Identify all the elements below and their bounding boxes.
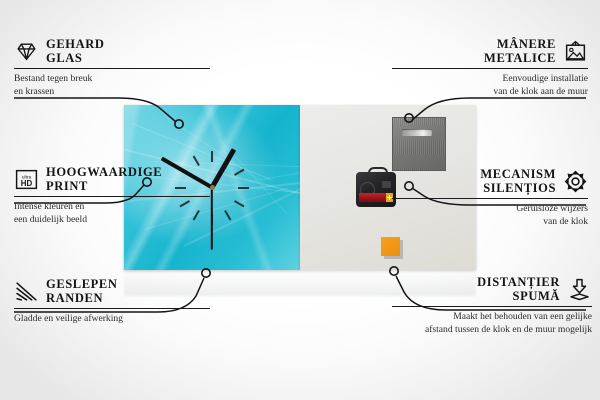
feature-divider [392, 68, 588, 69]
feature-title: HOOGWAARDIGE PRINT [46, 166, 162, 193]
feature-mecanism-silentios: MECANISM SILENȚIOS Geruisloze wijzers va… [392, 168, 588, 228]
feature-header: GEHARD GLAS [14, 38, 210, 65]
feature-desc-line: Gladde en veilige afwerking [14, 313, 210, 325]
feature-description: Gladde en veilige afwerking [14, 313, 210, 325]
feature-description: Bestand tegen breuk en krassen [14, 73, 210, 98]
feature-gehard-glas: GEHARD GLAS Bestand tegen breuk en krass… [14, 38, 210, 98]
feature-desc-line: van de klok aan de muur [392, 86, 588, 98]
feature-description: Intense kleuren en een duidelijk beeld [14, 201, 210, 226]
feature-header: GESLEPEN RANDEN [14, 278, 210, 305]
feature-desc-line: Bestand tegen breuk [14, 73, 210, 85]
framed-picture-icon [563, 39, 588, 64]
wire-manere-metalice [412, 98, 586, 120]
diamond-icon [14, 39, 39, 64]
feature-title-line: SILENȚIOS [480, 182, 556, 196]
feature-title-line: HOOGWAARDIGE [46, 166, 162, 180]
feature-hoogwaardige-print: ultra HD HOOGWAARDIGE PRINT Intense kleu… [14, 166, 210, 226]
feature-divider [14, 68, 210, 69]
feature-title-line: MÂNERE [484, 38, 556, 52]
svg-text:HD: HD [21, 179, 33, 188]
beveled-edge-icon [14, 279, 39, 304]
feature-desc-line: Geruisloze wijzers [392, 203, 588, 215]
wire-endpoint-manere-metalice [405, 114, 413, 122]
feature-title-line: GEHARD [46, 38, 104, 52]
feature-distantier-spuma: DISTANȚIER SPUMĂ Maakt het behouden van … [392, 276, 592, 336]
feature-divider [392, 198, 588, 199]
feature-desc-line: Maakt het behouden van een gelijke [392, 311, 592, 323]
feature-description: Geruisloze wijzers van de klok [392, 203, 588, 228]
feature-desc-line: Eenvoudige installatie [392, 73, 588, 85]
ultra-hd-icon: ultra HD [14, 167, 39, 192]
infographic-canvas: GEHARD GLAS Bestand tegen breuk en krass… [0, 0, 600, 400]
wire-endpoint-geslepen-randen [202, 269, 210, 277]
feature-title: GESLEPEN RANDEN [46, 278, 118, 305]
feature-title: MÂNERE METALICE [484, 38, 556, 65]
feature-title: GEHARD GLAS [46, 38, 104, 65]
feature-divider [14, 196, 210, 197]
feature-desc-line: Intense kleuren en [14, 201, 210, 213]
feature-divider [14, 308, 210, 309]
feature-title-line: METALICE [484, 52, 556, 66]
feature-desc-line: van de klok [392, 216, 588, 228]
feature-title: MECANISM SILENȚIOS [480, 168, 556, 195]
feature-desc-line: en krassen [14, 86, 210, 98]
feature-divider [392, 306, 592, 307]
wire-gehard-glas [14, 98, 176, 122]
feature-title: DISTANȚIER SPUMĂ [477, 276, 560, 303]
feature-description: Eenvoudige installatie van de klok aan d… [392, 73, 588, 98]
feature-description: Maakt het behouden van een gelijke afsta… [392, 311, 592, 336]
feature-title-line: SPUMĂ [477, 290, 560, 304]
feature-desc-line: een duidelijk beeld [14, 214, 210, 226]
feature-title-line: GLAS [46, 52, 104, 66]
feature-geslepen-randen: GESLEPEN RANDEN Gladde en veilige afwerk… [14, 278, 210, 326]
feature-header: MÂNERE METALICE [392, 38, 588, 65]
wire-endpoint-distantier-spuma [390, 267, 398, 275]
feature-title-line: GESLEPEN [46, 278, 118, 292]
feature-header: MECANISM SILENȚIOS [392, 168, 588, 195]
gear-icon [563, 169, 588, 194]
feature-title-line: MECANISM [480, 168, 556, 182]
feature-header: ultra HD HOOGWAARDIGE PRINT [14, 166, 210, 193]
feature-header: DISTANȚIER SPUMĂ [392, 276, 592, 303]
wire-endpoint-gehard-glas [175, 120, 183, 128]
feature-title-line: RANDEN [46, 292, 118, 306]
feature-manere-metalice: MÂNERE METALICE Eenvoudige installatie v… [392, 38, 588, 98]
feature-title-line: PRINT [46, 180, 162, 194]
feature-desc-line: afstand tussen de klok en de muur mogeli… [392, 324, 592, 336]
spacer-down-arrow-icon [567, 277, 592, 302]
feature-title-line: DISTANȚIER [477, 276, 560, 290]
